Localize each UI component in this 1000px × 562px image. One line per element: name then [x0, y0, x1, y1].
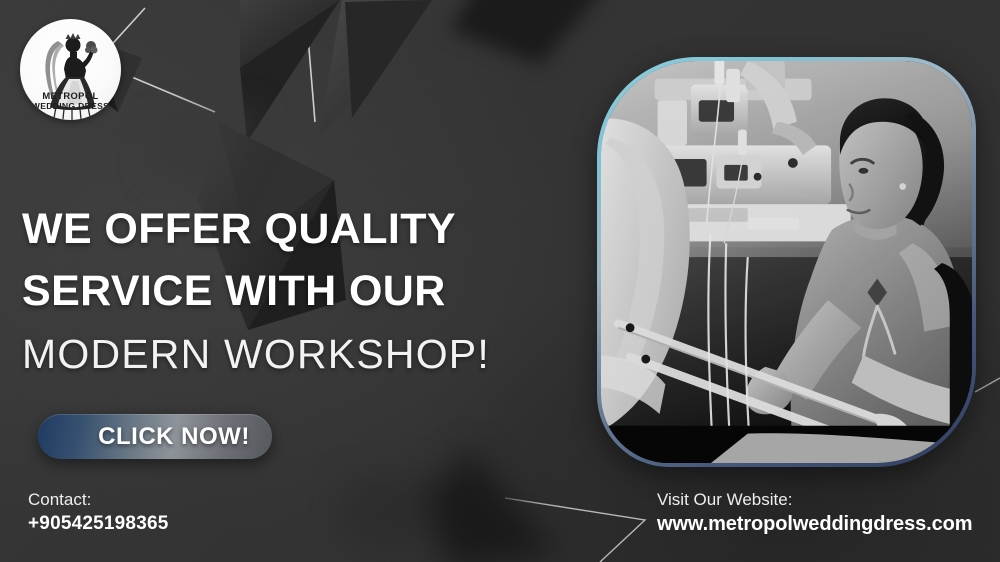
website-block: Visit Our Website: www.metropolweddingdr… [657, 489, 972, 537]
workshop-photo [601, 61, 972, 463]
logo-line2: WEDDING DRESS [32, 101, 109, 111]
brand-logo[interactable]: METROPOL WEDDING DRESS [20, 19, 121, 120]
headline-block: WE OFFER QUALITY SERVICE WITH OUR MODERN… [22, 198, 582, 386]
contact-phone[interactable]: +905425198365 [28, 511, 169, 537]
blurred-polygon-bottom-center [330, 440, 660, 562]
headline-line-2: SERVICE WITH OUR [22, 260, 582, 322]
contact-label: Contact: [28, 489, 169, 511]
headline-line-3: MODERN WORKSHOP! [22, 322, 582, 386]
headline-line-1: WE OFFER QUALITY [22, 198, 582, 260]
logo-line1: METROPOL [42, 90, 98, 101]
website-label: Visit Our Website: [657, 489, 972, 511]
bride-silhouette-icon: METROPOL WEDDING DRESS [20, 19, 121, 120]
promotional-banner: METROPOL WEDDING DRESS WE OFFER QUALITY … [0, 0, 1000, 562]
website-url[interactable]: www.metropolweddingdress.com [657, 511, 972, 537]
contact-block: Contact: +905425198365 [28, 489, 169, 537]
click-now-button[interactable]: CLICK NOW! [38, 414, 272, 459]
photo-frame [597, 57, 976, 467]
workshop-photo-illustration [601, 61, 972, 463]
